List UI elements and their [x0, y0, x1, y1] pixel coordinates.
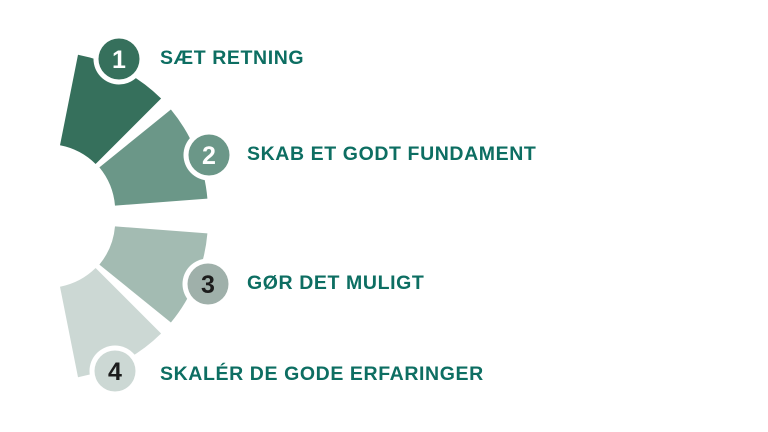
step-label-2[interactable]: SKAB ET GODT FUNDAMENT	[247, 145, 536, 165]
step-badge-2[interactable]: 2	[184, 130, 235, 181]
step-badge-3[interactable]: 3	[183, 259, 234, 310]
badge-number-3: 3	[201, 271, 215, 299]
step-badge-1[interactable]: 1	[94, 34, 145, 85]
step-label-1[interactable]: SÆT RETNING	[160, 49, 304, 69]
step-badge-4[interactable]: 4	[90, 346, 141, 397]
badge-number-2: 2	[202, 142, 216, 170]
badge-number-1: 1	[112, 46, 126, 74]
badge-number-4: 4	[108, 358, 122, 386]
process-wheel-infographic: 1 2 3 4 SÆT RETNING SKAB ET GODT FUNDAME…	[0, 0, 768, 432]
step-label-4[interactable]: SKALÉR DE GODE ERFARINGER	[160, 365, 484, 385]
step-label-3[interactable]: GØR DET MULIGT	[247, 274, 424, 294]
